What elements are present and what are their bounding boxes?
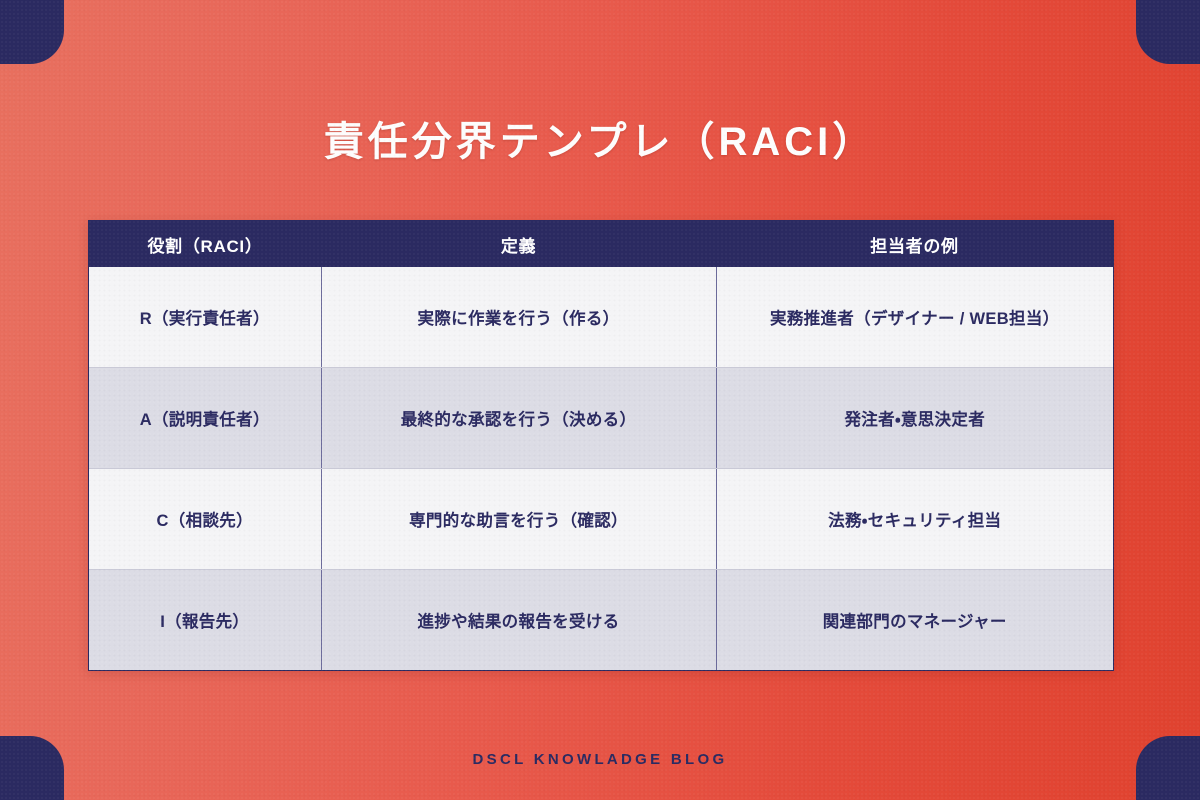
column-header-example: 担当者の例 [716,221,1113,267]
cell-role: R（実行責任者） [89,267,321,368]
corner-ornament-bottom-left [0,736,64,800]
cell-role: A（説明責任者） [89,368,321,469]
corner-ornament-bottom-right [1136,736,1200,800]
column-header-definition: 定義 [321,221,716,267]
cell-role: C（相談先） [89,469,321,570]
raci-table-container: 役割（RACI） 定義 担当者の例 R（実行責任者） 実際に作業を行う（作る） … [88,220,1114,671]
cell-example: 実務推進者（デザイナー / WEB担当） [716,267,1113,368]
cell-definition: 進捗や結果の報告を受ける [321,570,716,671]
table-header-row: 役割（RACI） 定義 担当者の例 [89,221,1113,267]
table-row: C（相談先） 専門的な助言を行う（確認） 法務・セキュリティ担当 [89,469,1113,570]
table-body: R（実行責任者） 実際に作業を行う（作る） 実務推進者（デザイナー / WEB担… [89,267,1113,670]
footer-brand: DSCL KNOWLADGE BLOG [0,751,1200,768]
cell-definition: 実際に作業を行う（作る） [321,267,716,368]
cell-definition: 専門的な助言を行う（確認） [321,469,716,570]
cell-role: I（報告先） [89,570,321,671]
table-row: I（報告先） 進捗や結果の報告を受ける 関連部門のマネージャー [89,570,1113,671]
corner-ornament-top-left [0,0,64,64]
table-row: A（説明責任者） 最終的な承認を行う（決める） 発注者・意思決定者 [89,368,1113,469]
cell-example: 関連部門のマネージャー [716,570,1113,671]
column-header-role: 役割（RACI） [89,221,321,267]
raci-table: 役割（RACI） 定義 担当者の例 R（実行責任者） 実際に作業を行う（作る） … [89,221,1113,670]
cell-example: 発注者・意思決定者 [716,368,1113,469]
corner-ornament-top-right [1136,0,1200,64]
cell-definition: 最終的な承認を行う（決める） [321,368,716,469]
table-row: R（実行責任者） 実際に作業を行う（作る） 実務推進者（デザイナー / WEB担… [89,267,1113,368]
page-title: 責任分界テンプレ（RACI） [0,109,1200,167]
poster-canvas: 責任分界テンプレ（RACI） 役割（RACI） 定義 担当者の例 R（実行責任者… [0,0,1200,800]
table-header: 役割（RACI） 定義 担当者の例 [89,221,1113,267]
cell-example: 法務・セキュリティ担当 [716,469,1113,570]
